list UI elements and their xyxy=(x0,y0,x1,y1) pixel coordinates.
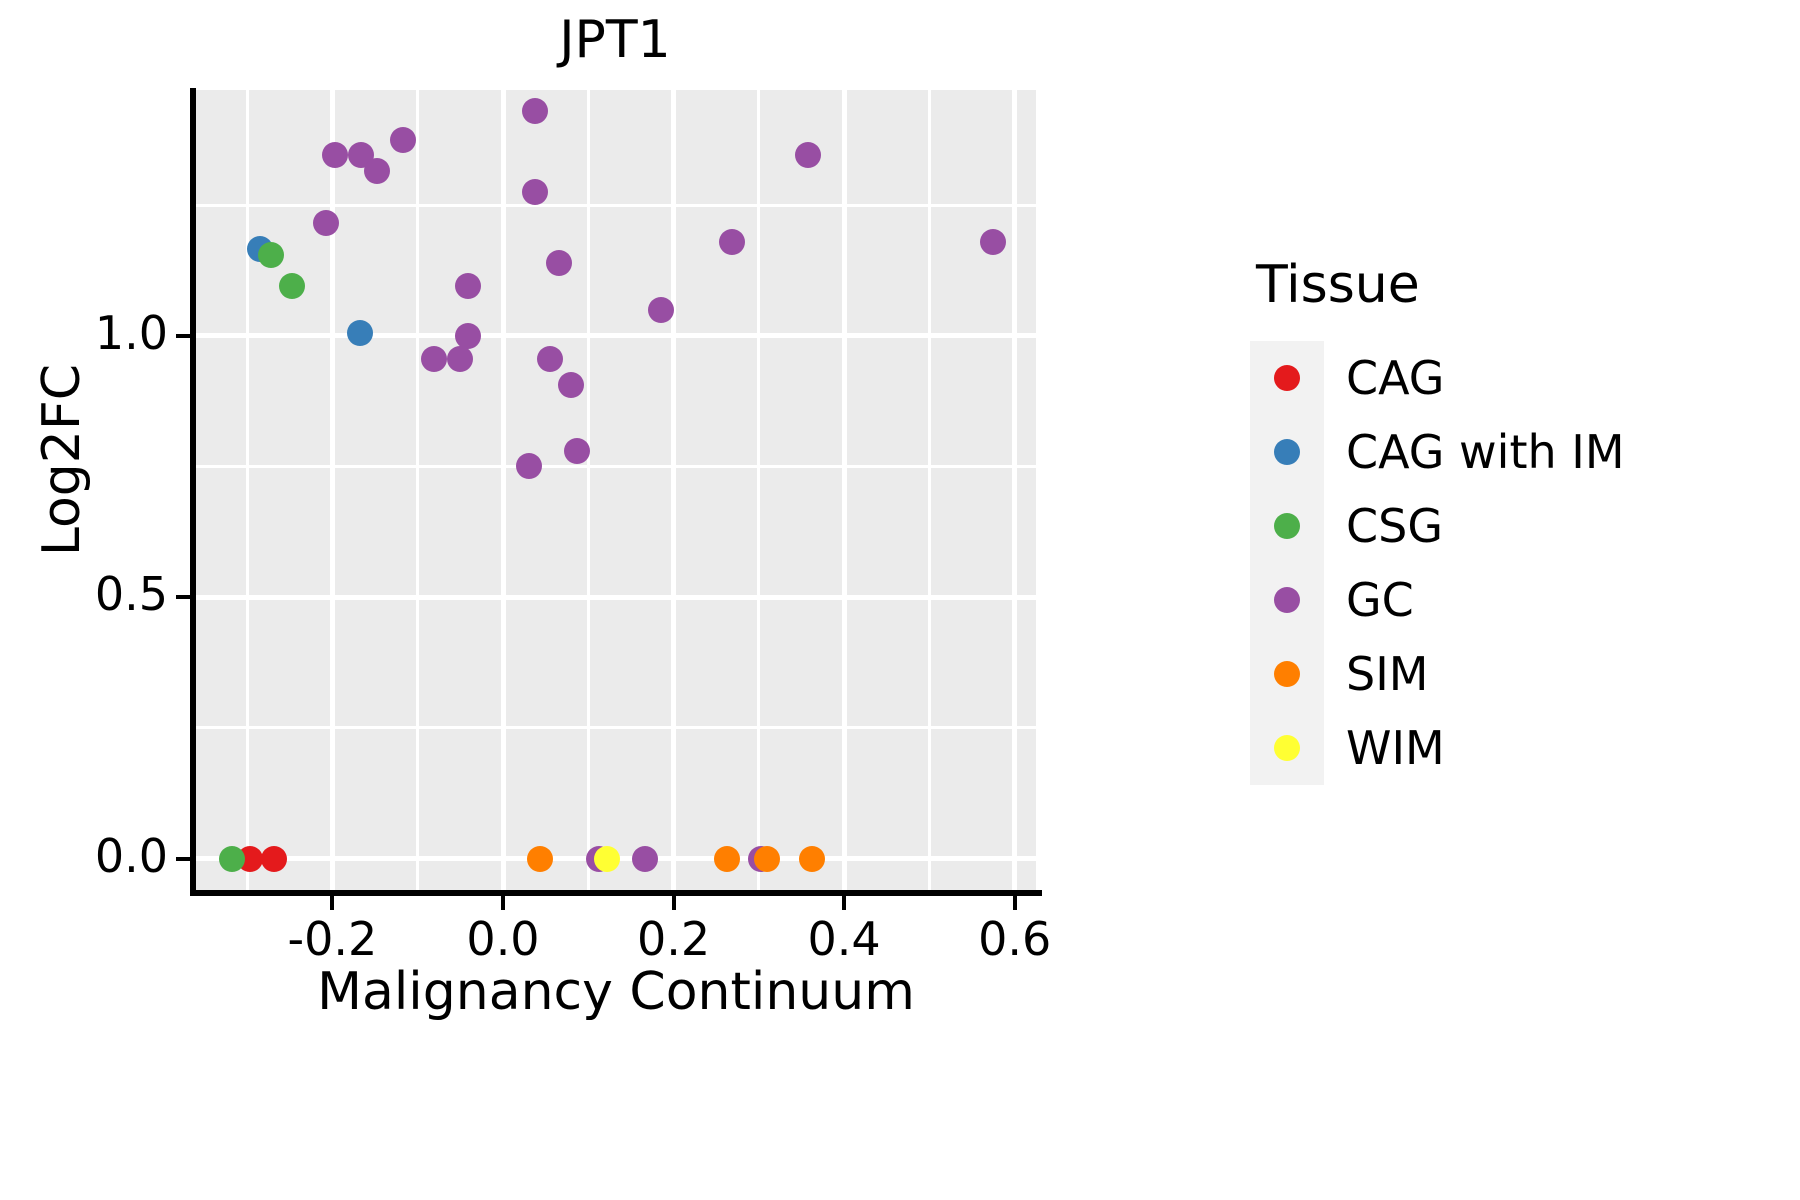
data-point xyxy=(522,98,548,124)
legend-item-label: SIM xyxy=(1346,651,1428,697)
data-point xyxy=(795,142,821,168)
legend-item-gc[interactable]: GC xyxy=(1250,563,1770,637)
y-tick-mark xyxy=(176,857,190,861)
grid-line-vertical-major xyxy=(1012,90,1017,890)
x-tick-label: -0.2 xyxy=(242,912,422,966)
data-point xyxy=(754,846,780,872)
data-point xyxy=(564,438,590,464)
grid-line-vertical-major xyxy=(501,90,506,890)
data-point xyxy=(594,846,620,872)
legend-swatch-cell xyxy=(1250,489,1324,563)
data-point xyxy=(522,179,548,205)
legend-item-cag[interactable]: CAG xyxy=(1250,341,1770,415)
grid-line-vertical-major xyxy=(671,90,676,890)
legend-item-sim[interactable]: SIM xyxy=(1250,637,1770,711)
grid-line-vertical-minor xyxy=(757,90,760,890)
grid-line-horizontal-major xyxy=(196,333,1036,338)
x-tick-mark xyxy=(501,896,505,910)
legend-color-dot-icon xyxy=(1274,735,1300,761)
plot-panel xyxy=(196,90,1036,890)
data-point xyxy=(455,323,481,349)
legend-item-wim[interactable]: WIM xyxy=(1250,711,1770,785)
data-point xyxy=(447,346,473,372)
legend-swatch-cell xyxy=(1250,341,1324,415)
data-point xyxy=(421,346,447,372)
x-tick-label: 0.6 xyxy=(925,912,1105,966)
data-point xyxy=(279,273,305,299)
grid-line-horizontal-minor xyxy=(196,465,1036,468)
y-tick-label: 0.0 xyxy=(0,829,168,883)
legend-swatch-cell xyxy=(1250,563,1324,637)
grid-line-horizontal-major xyxy=(196,595,1036,600)
x-axis-label: Malignancy Continuum xyxy=(190,962,1042,1022)
data-point xyxy=(632,846,658,872)
data-point xyxy=(390,127,416,153)
data-point xyxy=(714,846,740,872)
legend-item-label: CSG xyxy=(1346,503,1443,549)
data-point xyxy=(537,346,563,372)
x-tick-label: 0.0 xyxy=(413,912,593,966)
x-tick-label: 0.2 xyxy=(584,912,764,966)
y-axis-label: Log2FC xyxy=(32,280,92,640)
y-tick-mark xyxy=(176,595,190,599)
data-point xyxy=(799,846,825,872)
legend-item-cag-with-im[interactable]: CAG with IM xyxy=(1250,415,1770,489)
data-point xyxy=(219,846,245,872)
chart-root: JPT1 -0.20.00.20.40.6 0.00.51.0 Malignan… xyxy=(0,0,1800,1200)
legend-color-dot-icon xyxy=(1274,365,1300,391)
x-tick-label: 0.4 xyxy=(754,912,934,966)
legend-item-label: GC xyxy=(1346,577,1414,623)
data-point xyxy=(261,846,287,872)
x-axis-line xyxy=(190,890,1042,896)
data-point xyxy=(322,142,348,168)
grid-line-horizontal-minor xyxy=(196,204,1036,207)
grid-line-vertical-major xyxy=(842,90,847,890)
legend-item-label: CAG with IM xyxy=(1346,429,1625,475)
legend-color-dot-icon xyxy=(1274,439,1300,465)
legend-title: Tissue xyxy=(1256,255,1770,315)
x-tick-mark xyxy=(672,896,676,910)
data-point xyxy=(546,250,572,276)
x-tick-mark xyxy=(330,896,334,910)
grid-line-vertical-minor xyxy=(246,90,249,890)
data-point xyxy=(313,210,339,236)
x-tick-mark xyxy=(1013,896,1017,910)
grid-line-vertical-minor xyxy=(587,90,590,890)
grid-line-vertical-minor xyxy=(928,90,931,890)
legend-swatch-cell xyxy=(1250,415,1324,489)
data-point xyxy=(980,229,1006,255)
data-point xyxy=(719,229,745,255)
legend-color-dot-icon xyxy=(1274,513,1300,539)
legend-swatch-cell xyxy=(1250,637,1324,711)
legend-color-dot-icon xyxy=(1274,661,1300,687)
grid-line-horizontal-minor xyxy=(196,726,1036,729)
legend-items: CAGCAG with IMCSGGCSIMWIM xyxy=(1250,341,1770,785)
legend-item-label: CAG xyxy=(1346,355,1444,401)
grid-line-vertical-minor xyxy=(416,90,419,890)
legend-color-dot-icon xyxy=(1274,587,1300,613)
legend-item-label: WIM xyxy=(1346,725,1445,771)
data-point xyxy=(516,453,542,479)
legend-item-csg[interactable]: CSG xyxy=(1250,489,1770,563)
data-point xyxy=(648,297,674,323)
x-tick-mark xyxy=(842,896,846,910)
data-point xyxy=(258,242,284,268)
data-point xyxy=(558,372,584,398)
data-point xyxy=(347,320,373,346)
page-title: JPT1 xyxy=(190,12,1040,69)
y-tick-mark xyxy=(176,334,190,338)
data-point xyxy=(527,846,553,872)
data-point xyxy=(364,158,390,184)
legend-swatch-cell xyxy=(1250,711,1324,785)
legend: Tissue CAGCAG with IMCSGGCSIMWIM xyxy=(1250,255,1770,785)
y-axis-line xyxy=(190,88,196,894)
data-point xyxy=(455,273,481,299)
